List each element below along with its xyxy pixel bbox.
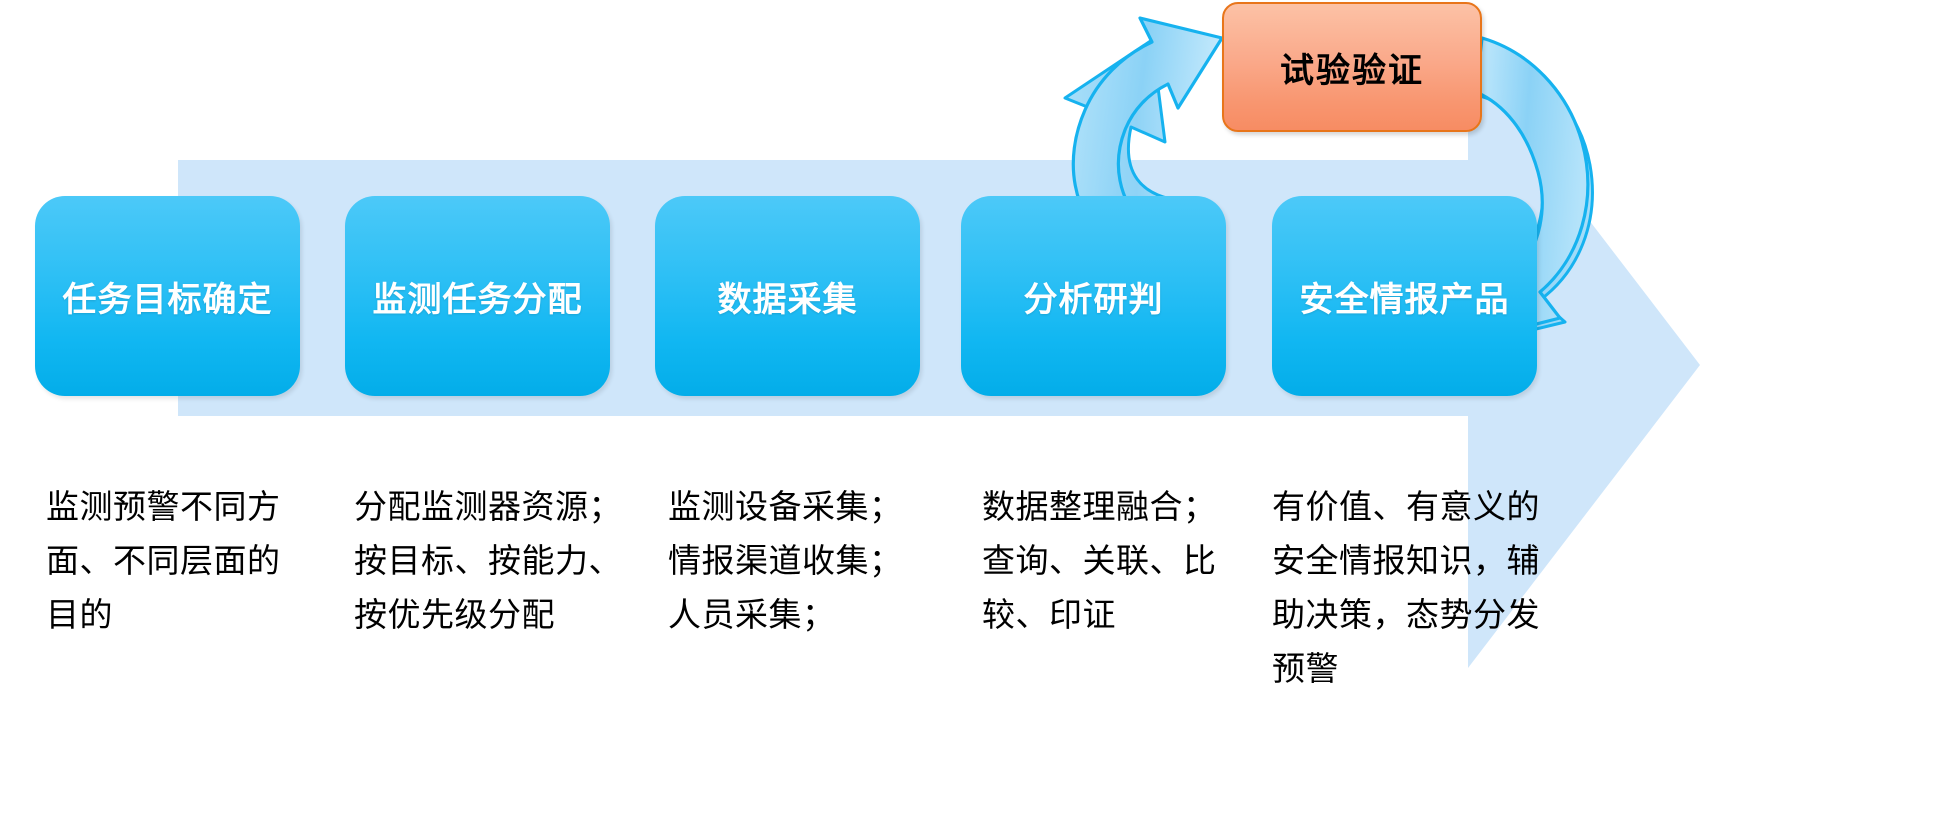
- stage-label-2: 监测任务分配: [373, 272, 583, 321]
- stage-caption-2: 分配监测器资源； 按目标、按能力、 按优先级分配: [354, 480, 654, 642]
- stage-label-5: 安全情报产品: [1300, 272, 1510, 321]
- stage-caption-1: 监测预警不同方 面、不同层面的 目的: [46, 480, 346, 642]
- stage-label-3: 数据采集: [718, 272, 858, 321]
- stage-box-2[interactable]: 监测任务分配: [345, 196, 610, 396]
- stage-box-4[interactable]: 分析研判: [961, 196, 1226, 396]
- cycle-arrows-final: [0, 0, 1941, 822]
- stage-box-5[interactable]: 安全情报产品: [1272, 196, 1537, 396]
- verification-box[interactable]: 试验验证: [1222, 2, 1482, 132]
- stage-caption-4: 数据整理融合； 查询、关联、比 较、印证: [982, 480, 1272, 642]
- stage-label-4: 分析研判: [1024, 272, 1164, 321]
- stage-box-1[interactable]: 任务目标确定: [35, 196, 300, 396]
- stage-box-3[interactable]: 数据采集: [655, 196, 920, 396]
- stage-caption-5: 有价值、有意义的 安全情报知识，辅 助决策，态势分发 预警: [1272, 480, 1572, 696]
- diagram-canvas: 试验验证 任务目标确定 监测任务分配 数据采集 分析研判 安全情报产品 监测预警…: [0, 0, 1941, 822]
- stage-label-1: 任务目标确定: [63, 272, 273, 321]
- stage-caption-3: 监测设备采集； 情报渠道收集； 人员采集；: [668, 480, 968, 642]
- verification-label: 试验验证: [1280, 43, 1424, 92]
